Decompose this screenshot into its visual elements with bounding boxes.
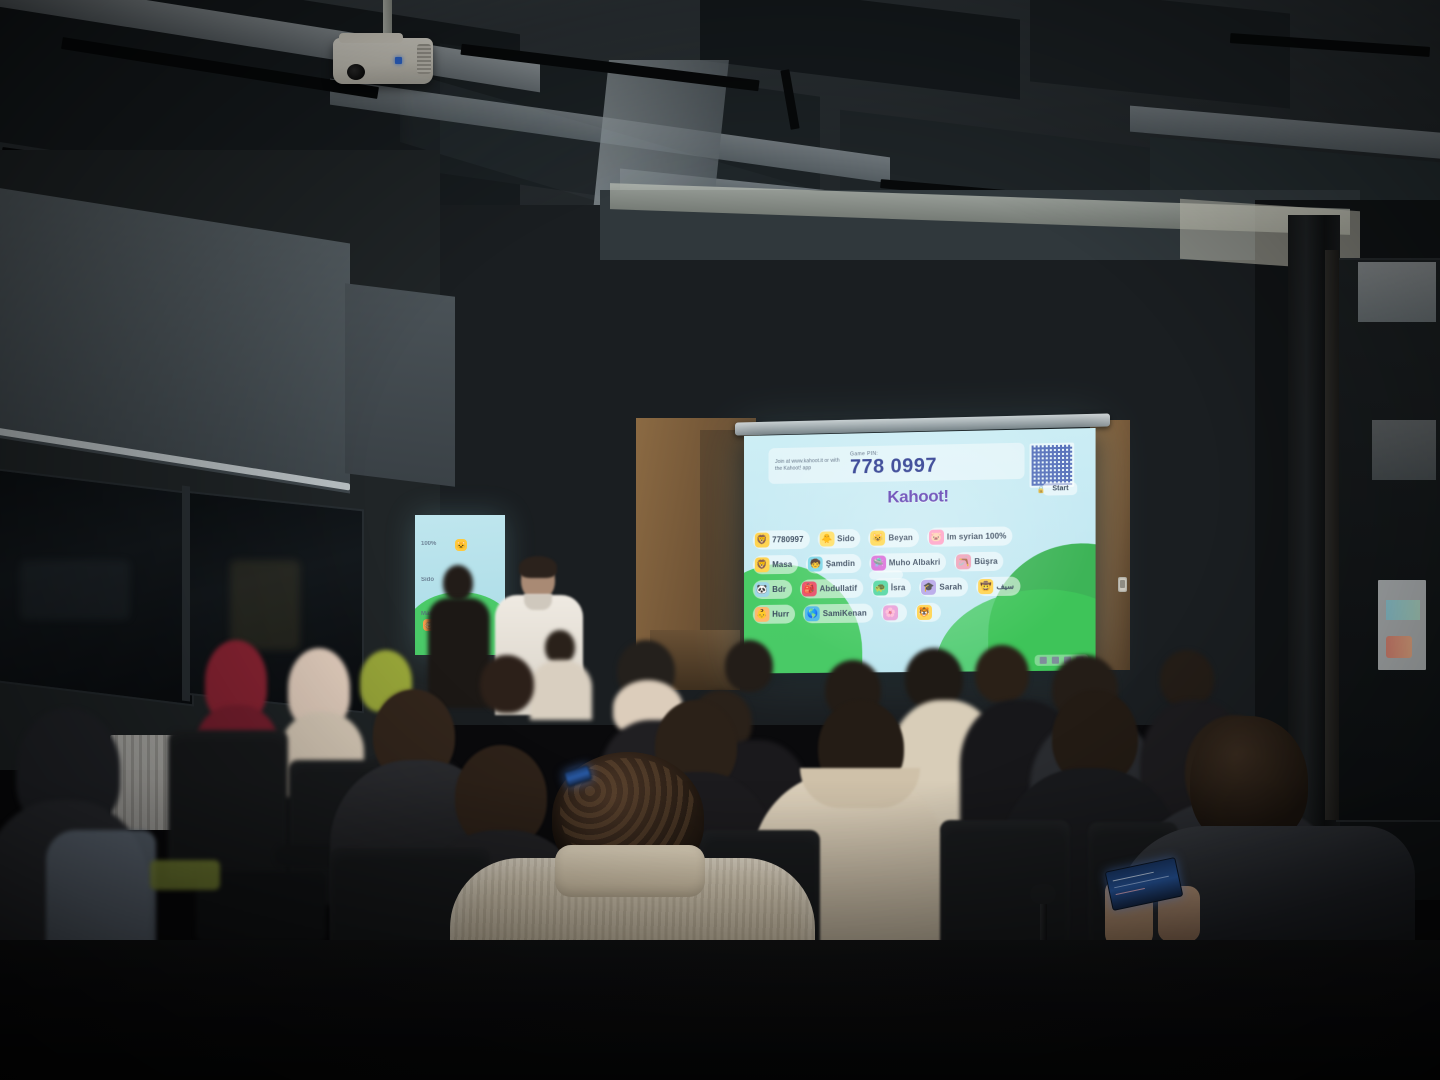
player-name: Bdr <box>772 585 786 594</box>
player-name: Sido <box>837 534 855 543</box>
player-chip: 🌸 <box>881 603 907 622</box>
qr-code-pattern <box>1031 445 1072 486</box>
sound-icon[interactable] <box>1040 657 1047 664</box>
player-name: İsra <box>891 583 906 592</box>
glass-door[interactable] <box>1336 258 1440 822</box>
player-chip: 🐷 Im syrian 100% <box>927 526 1013 546</box>
avatar-icon: 🐥 <box>819 531 834 546</box>
side-screen-label: 100% <box>421 541 436 547</box>
player-chip: 🎓 Sarah <box>919 577 968 597</box>
presenter-hair <box>519 556 557 578</box>
start-game-button[interactable]: Start <box>1043 482 1077 496</box>
player-name: Şamdin <box>826 559 855 568</box>
player-row: 🐼 Bdr 🎒 Abdullatif 🐢 İsra 🎓 Sarah <box>753 576 1087 600</box>
side-screen-label: Sido <box>421 577 434 583</box>
player-chip: 🪃 Büşra <box>954 552 1003 572</box>
avatar-icon: 🐼 <box>755 582 770 597</box>
player-name: Im syrian 100% <box>947 532 1007 542</box>
game-pin-value: 778 0997 <box>850 456 937 478</box>
projector-lens-icon <box>347 64 365 80</box>
sweater-collar <box>555 845 705 897</box>
microphone-icon <box>1030 884 1056 904</box>
avatar-icon: 🎓 <box>921 580 936 595</box>
audience-head <box>725 640 773 692</box>
door-frame <box>1325 250 1339 820</box>
player-row: 👶 Hurr 🌎 SamiKenan 🌸 🐯 <box>753 601 1087 624</box>
avatar-icon: 😺 <box>871 531 886 546</box>
office-chair <box>168 730 288 880</box>
poster-graphic <box>1386 636 1412 658</box>
player-chip: 🛸 Muho Albakri <box>869 553 946 573</box>
player-chip: 👶 Hurr <box>753 605 796 624</box>
player-chip: 😺 Beyan <box>869 528 919 548</box>
avatar-icon: 🛸 <box>871 556 886 571</box>
window-mullion <box>182 486 190 702</box>
avatar-icon: 🌎 <box>805 606 820 621</box>
join-instructions: Join at www.kahoot.it or with the Kahoot… <box>775 458 844 473</box>
audience-head <box>480 655 534 713</box>
fullscreen-icon[interactable] <box>1052 657 1059 664</box>
player-chip: 🤠 سيف <box>976 577 1020 597</box>
player-chip: 🦁 Masa <box>753 555 799 575</box>
player-name: 7780997 <box>772 535 803 544</box>
avatar-icon: 🧒 <box>808 556 823 571</box>
projector <box>333 38 433 84</box>
kahoot-lobby-slide: Join at www.kahoot.it or with the Kahoot… <box>744 428 1096 674</box>
player-name: Beyan <box>888 533 912 542</box>
player-name: Abdullatif <box>820 584 857 593</box>
avatar-icon: 👶 <box>755 607 770 622</box>
player-name: Masa <box>772 560 792 569</box>
standing-person-head <box>443 565 473 601</box>
avatar-icon: 🦁 <box>755 557 770 572</box>
player-name: Muho Albakri <box>889 558 940 568</box>
player-name: سيف <box>996 582 1014 591</box>
player-chip: 🐼 Bdr <box>753 580 792 599</box>
player-name: Büşra <box>974 557 997 566</box>
classroom-scene: 🐱 🐵 100% Sido Masa Join at www.kahoot.it… <box>0 0 1440 1080</box>
window-reflection <box>20 560 130 620</box>
player-name: Hurr <box>772 610 789 619</box>
presenter-collar <box>524 594 552 610</box>
player-chip: 🌎 SamiKenan <box>803 604 873 624</box>
player-name: Sarah <box>939 582 962 591</box>
wood-column <box>1090 420 1130 670</box>
kahoot-logo: Kahoot! <box>887 487 948 508</box>
player-row: 🦁 7780997 🐥 Sido 😺 Beyan 🐷 Im syrian 100… <box>753 525 1087 550</box>
player-chip: 🦁 7780997 <box>753 530 810 550</box>
adjacent-room-light <box>1358 262 1436 322</box>
player-chip: 🐥 Sido <box>817 529 860 549</box>
seated-person-body <box>530 660 592 720</box>
avatar-icon: 🤠 <box>978 579 993 594</box>
player-chip: 🐯 <box>915 603 941 622</box>
avatar-icon: 🌸 <box>883 605 898 620</box>
game-pin-block: Game PIN: 778 0997 <box>850 450 937 478</box>
player-chip: 🧒 Şamdin <box>806 554 861 574</box>
avatar-icon: 🎒 <box>802 581 817 596</box>
projector-led-icon <box>395 57 402 64</box>
avatar-icon: 🦁 <box>755 533 770 548</box>
adjacent-room-light <box>1372 420 1436 480</box>
window-reflection <box>230 560 300 650</box>
avatar-icon: 🐯 <box>917 605 932 620</box>
player-chip: 🐢 İsra <box>871 578 911 598</box>
avatar-icon: 🪃 <box>956 554 971 569</box>
avatar-icon: 🐢 <box>873 580 888 595</box>
window-blind[interactable] <box>345 283 455 487</box>
projection-screen: Join at www.kahoot.it or with the Kahoot… <box>744 428 1096 674</box>
player-name: SamiKenan <box>823 609 867 618</box>
projector-mount-bracket <box>339 33 403 43</box>
chair-cushion <box>150 860 220 890</box>
game-pin-bar: Join at www.kahoot.it or with the Kahoot… <box>768 443 1024 484</box>
poster-graphic <box>1386 600 1420 620</box>
floor <box>0 940 1440 1080</box>
player-chip: 🎒 Abdullatif <box>800 579 863 599</box>
audience-head <box>975 645 1029 703</box>
avatar-icon: 🐷 <box>929 530 944 545</box>
avatar-icon: 🐱 <box>455 539 467 551</box>
player-list: 🦁 7780997 🐥 Sido 😺 Beyan 🐷 Im syrian 100… <box>753 525 1087 630</box>
seated-person-head <box>545 630 575 664</box>
projector-vent-icon <box>417 44 431 74</box>
player-row: 🦁 Masa 🧒 Şamdin 🛸 Muho Albakri 🪃 Büşra <box>753 550 1087 574</box>
light-switch[interactable] <box>1118 577 1127 592</box>
